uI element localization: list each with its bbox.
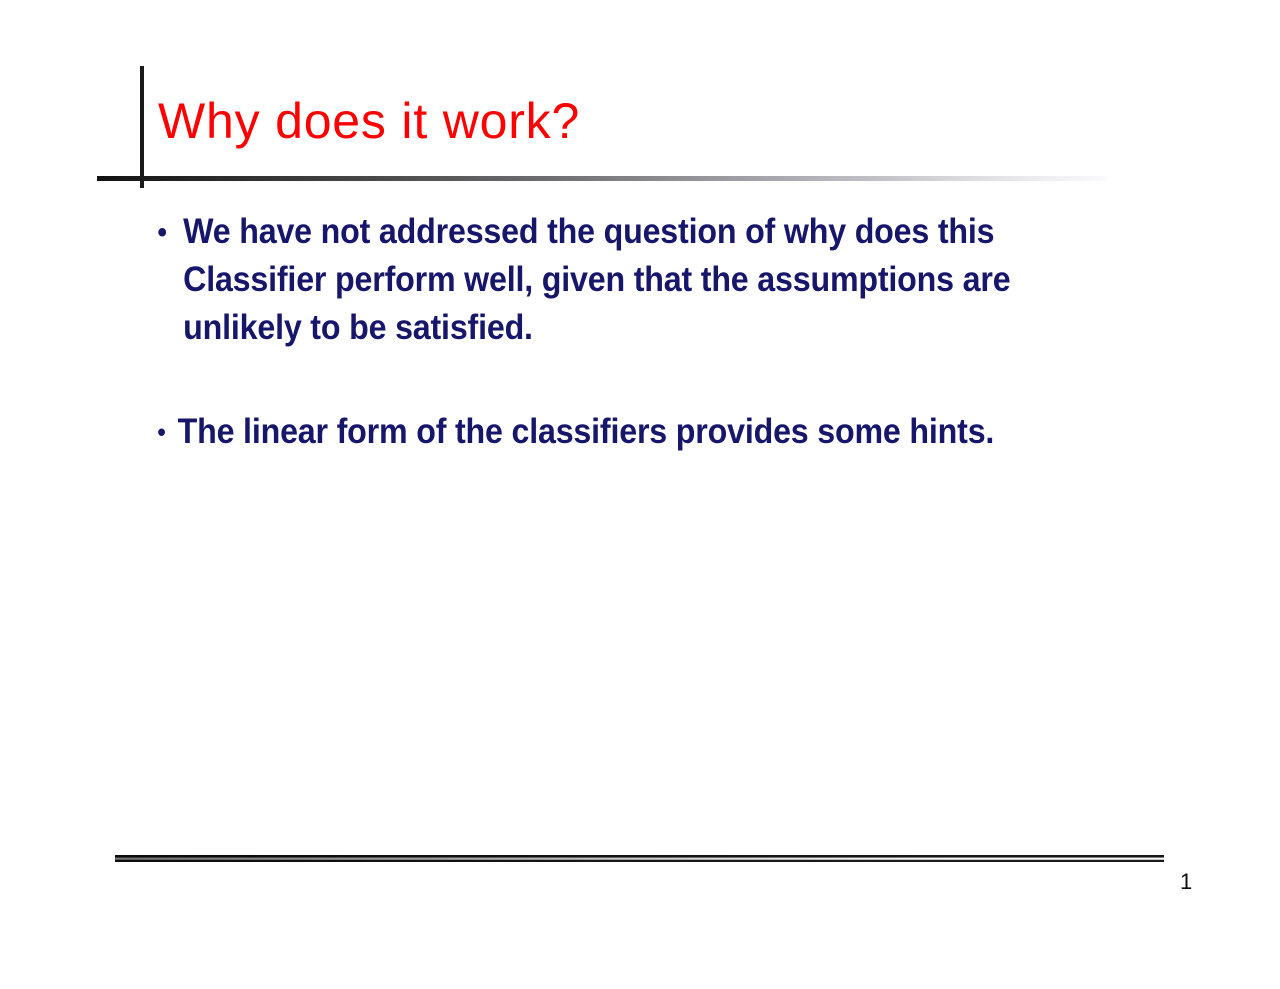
page-title: Why does it work?: [158, 92, 580, 150]
title-horizontal-rule: [97, 176, 1107, 181]
bullet-item: • The linear form of the classifiers pro…: [150, 408, 1088, 456]
bullet-marker-icon: •: [157, 408, 165, 456]
bullet-marker-icon: •: [157, 209, 166, 257]
bullet-text: The linear form of the classifiers provi…: [150, 408, 1088, 456]
footer-rule: [115, 855, 1164, 862]
bullet-text: We have not addressed the question of wh…: [150, 208, 1088, 352]
slide-canvas: Why does it work? • We have not addresse…: [0, 0, 1280, 989]
bullet-item: • We have not addressed the question of …: [150, 208, 1088, 352]
title-vertical-rule: [140, 66, 144, 188]
page-number: 1: [1180, 869, 1192, 895]
slide-body: • We have not addressed the question of …: [150, 208, 1170, 456]
